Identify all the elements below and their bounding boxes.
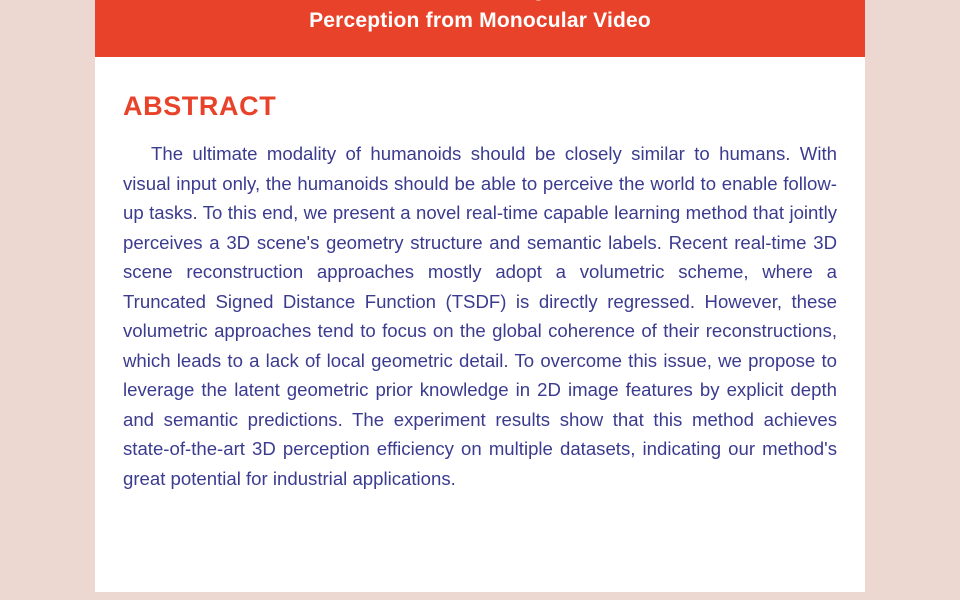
document-title: Cross-Dimensional Refined Learning for R… [95,0,865,36]
abstract-body: The ultimate modality of humanoids shoul… [123,139,837,493]
page-bottom-gap [95,592,865,600]
abstract-heading: ABSTRACT [123,91,837,122]
left-margin [0,0,95,600]
abstract-section: ABSTRACT The ultimate modality of humano… [95,69,865,600]
title-banner: Cross-Dimensional Refined Learning for R… [95,0,865,57]
right-margin [865,0,960,600]
